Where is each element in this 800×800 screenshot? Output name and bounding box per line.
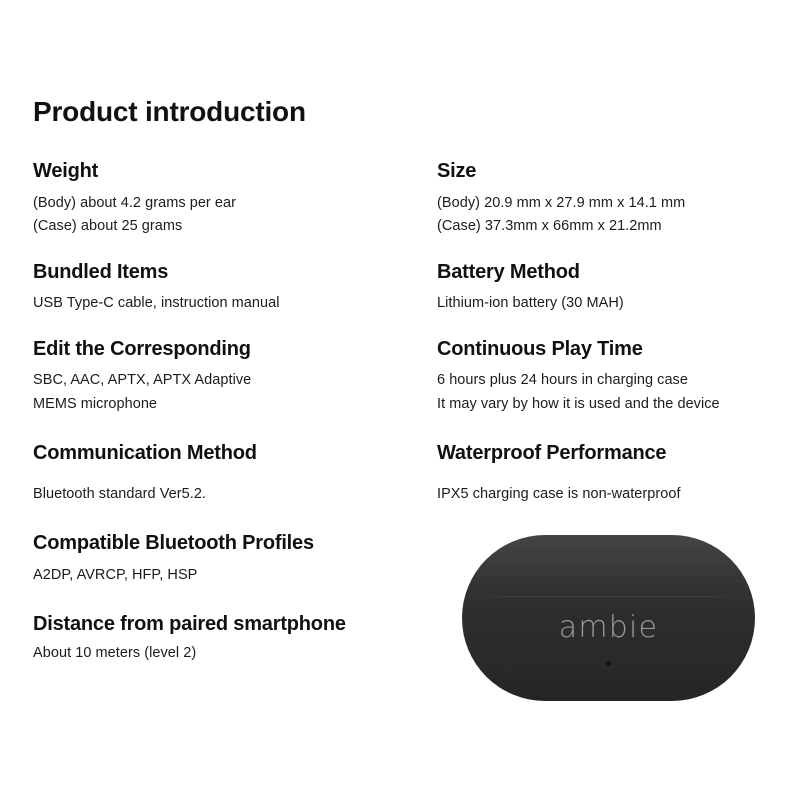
spec-line: Bluetooth standard Ver5.2. [33,483,428,506]
spec-line: MEMS microphone [33,393,428,416]
spec-line: USB Type-C cable, instruction manual [33,292,428,315]
spec-line: (Body) about 4.2 grams per ear [33,192,428,215]
spec-line: (Case) 37.3mm x 66mm x 21.2mm [437,215,787,238]
spec-continuous-play-time: Continuous Play Time 6 hours plus 24 hou… [437,338,787,417]
spec-size: Size (Body) 20.9 mm x 27.9 mm x 14.1 mm … [437,160,787,239]
ambie-brand-logo: ambie [462,613,755,643]
spec-line: SBC, AAC, APTX, APTX Adaptive [33,369,428,392]
spec-body: A2DP, AVRCP, HFP, HSP [33,564,428,587]
spec-edit-the-corresponding: Edit the Corresponding SBC, AAC, APTX, A… [33,338,428,417]
spec-heading: Size [437,160,787,184]
spec-line: 6 hours plus 24 hours in charging case [437,369,787,392]
spec-bundled-items: Bundled Items USB Type-C cable, instruct… [33,261,428,316]
spec-line: (Case) about 25 grams [33,215,428,238]
spec-battery-method: Battery Method Lithium-ion battery (30 M… [437,261,787,316]
case-lid-seam [462,596,755,597]
spec-line: About 10 meters (level 2) [33,642,428,665]
spec-body: (Body) about 4.2 grams per ear (Case) ab… [33,192,428,239]
spec-line: IPX5 charging case is non-waterproof [437,483,787,506]
spec-body: SBC, AAC, APTX, APTX Adaptive MEMS micro… [33,369,428,416]
spec-heading: Battery Method [437,261,787,285]
spec-body: USB Type-C cable, instruction manual [33,292,428,315]
spec-line: It may vary by how it is used and the de… [437,393,787,416]
spec-body: Bluetooth standard Ver5.2. [33,483,428,506]
spec-line: A2DP, AVRCP, HFP, HSP [33,564,428,587]
led-indicator-icon [606,661,611,666]
spec-waterproof-performance: Waterproof Performance IPX5 charging cas… [437,442,787,506]
spec-heading: Weight [33,160,428,184]
spec-heading: Compatible Bluetooth Profiles [33,532,428,556]
spec-body: About 10 meters (level 2) [33,642,428,665]
spec-line: Lithium-ion battery (30 MAH) [437,292,787,315]
spec-communication-method: Communication Method Bluetooth standard … [33,442,428,506]
product-introduction-page: Product introduction Weight (Body) about… [0,0,800,800]
spec-heading: Edit the Corresponding [33,338,428,362]
spec-body: Lithium-ion battery (30 MAH) [437,292,787,315]
spec-heading: Continuous Play Time [437,338,787,362]
page-title: Product introduction [33,98,306,126]
charging-case-body: ambie [462,535,755,701]
spec-column-right: Size (Body) 20.9 mm x 27.9 mm x 14.1 mm … [437,160,787,528]
spec-line: (Body) 20.9 mm x 27.9 mm x 14.1 mm [437,192,787,215]
spec-column-left: Weight (Body) about 4.2 grams per ear (C… [33,160,428,687]
spec-body: 6 hours plus 24 hours in charging case I… [437,369,787,416]
spec-body: (Body) 20.9 mm x 27.9 mm x 14.1 mm (Case… [437,192,787,239]
spec-weight: Weight (Body) about 4.2 grams per ear (C… [33,160,428,239]
spec-heading: Communication Method [33,442,428,466]
spec-body: IPX5 charging case is non-waterproof [437,483,787,506]
spec-heading: Bundled Items [33,261,428,285]
case-top-sheen [462,535,755,596]
spec-heading: Waterproof Performance [437,442,787,466]
product-image-charging-case: ambie [462,535,755,701]
spec-compatible-bluetooth-profiles: Compatible Bluetooth Profiles A2DP, AVRC… [33,532,428,587]
spec-heading: Distance from paired smartphone [33,613,428,637]
spec-distance-from-paired-smartphone: Distance from paired smartphone About 10… [33,613,428,665]
